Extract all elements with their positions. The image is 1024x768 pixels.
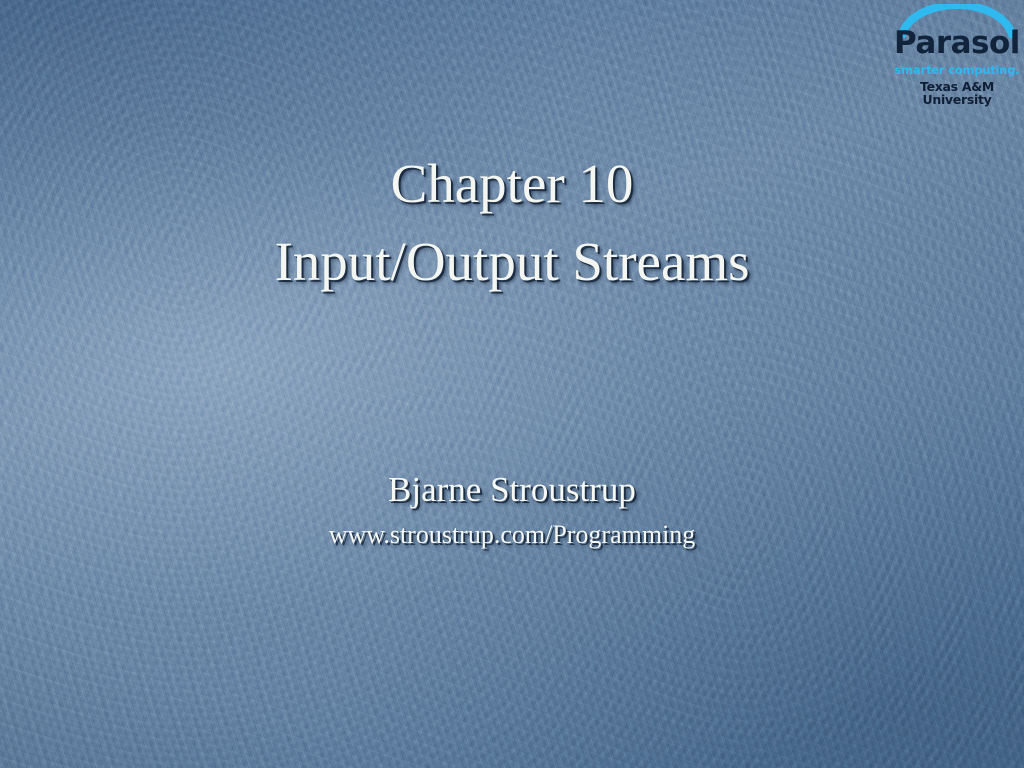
slide-subtitle: Bjarne Stroustrup www.stroustrup.com/Pro… — [0, 471, 1024, 549]
presentation-slide: Parasol smarter computing. Texas A&M Uni… — [0, 0, 1024, 768]
parasol-tagline: smarter computing. — [893, 65, 1021, 77]
slide-title: Chapter 10 Input/Output Streams — [0, 160, 1024, 286]
author-name: Bjarne Stroustrup — [0, 471, 1024, 509]
slide-title-line-2: Input/Output Streams — [0, 238, 1024, 286]
parasol-logo: Parasol smarter computing. Texas A&M Uni… — [893, 4, 1021, 100]
author-url: www.stroustrup.com/Programming — [0, 521, 1024, 549]
slide-title-line-1: Chapter 10 — [0, 160, 1024, 208]
parasol-wordmark: Parasol — [893, 28, 1021, 59]
slide-background-vignette — [0, 0, 1024, 768]
parasol-affiliation: Texas A&M University — [893, 81, 1021, 106]
